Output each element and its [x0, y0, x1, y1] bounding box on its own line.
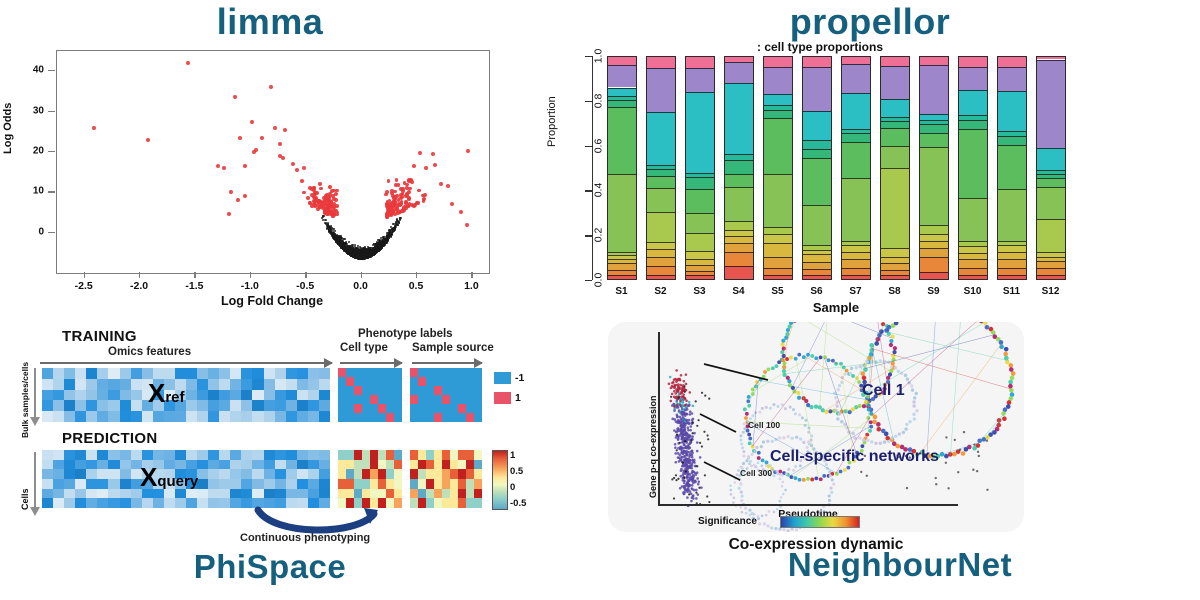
heatmap-cell	[241, 379, 252, 390]
diverging-heatmap-cell	[450, 498, 458, 508]
diverging-heatmap-cell	[434, 498, 442, 508]
proportion-segment	[959, 129, 987, 197]
proportion-bar	[802, 56, 832, 280]
diverging-heatmap-cell	[450, 469, 458, 479]
volcano-x-tick: -0.5	[296, 280, 314, 292]
diverging-heatmap-cell	[434, 479, 442, 489]
binary-heatmap-cell	[394, 413, 402, 422]
binary-heatmap-cell	[410, 368, 418, 377]
proportion-x-tick: S5	[771, 286, 783, 297]
proportion-segment	[959, 67, 987, 91]
heatmap-cell	[64, 479, 75, 489]
proportion-segment	[803, 205, 831, 245]
binary-heatmap-cell	[426, 377, 434, 386]
heatmap-cell	[75, 411, 86, 422]
binary-heatmap-cell	[370, 413, 378, 422]
proportion-segment	[920, 65, 948, 114]
proportion-segment	[998, 241, 1026, 245]
heatmap-cell	[230, 390, 241, 401]
binary-heatmap-cell	[418, 368, 426, 377]
heatmap-cell	[53, 479, 64, 489]
diverging-heatmap-cell	[394, 460, 402, 470]
volcano-x-tick: 1.0	[464, 280, 479, 292]
proportion-bar	[841, 56, 871, 280]
heatmap-cell	[197, 411, 208, 422]
heatmap-cell	[108, 400, 119, 411]
proportion-segment	[1037, 275, 1065, 279]
heatmap-cell	[286, 390, 297, 401]
proportion-segment	[998, 145, 1026, 190]
binary-heatmap-cell	[450, 386, 458, 395]
binary-heatmap-cell	[458, 377, 466, 386]
heatmap-cell	[219, 498, 230, 508]
proportion-segment	[725, 160, 753, 173]
heatmap-cell	[275, 479, 286, 489]
diverging-heatmap-cell	[426, 479, 434, 489]
binary-heatmap-cell	[346, 368, 354, 377]
proportion-segment	[647, 112, 675, 165]
heatmap-cell	[75, 379, 86, 390]
proportion-segment	[608, 107, 636, 174]
binary-heatmap-cell	[426, 413, 434, 422]
heatmap-cell	[286, 411, 297, 422]
diverging-heatmap-cell	[346, 450, 354, 460]
proportion-segment	[920, 272, 948, 279]
proportion-segment	[881, 121, 909, 128]
heatmap-cell	[219, 460, 230, 470]
proportion-segment	[1037, 148, 1065, 170]
heatmap-cell	[97, 400, 108, 411]
diverging-heatmap-cell	[442, 460, 450, 470]
heatmap-cell	[86, 460, 97, 470]
proportion-segment	[803, 67, 831, 111]
heatmap-cell	[308, 460, 319, 470]
proportion-segment	[920, 133, 948, 146]
heatmap-cell	[297, 411, 308, 422]
sample-source-binary-heatmap	[410, 368, 482, 422]
heatmap-cell	[97, 460, 108, 470]
heatmap-cell	[264, 479, 275, 489]
heatmap-cell	[64, 450, 75, 460]
proportion-segment	[920, 234, 948, 241]
volcano-y-tick: 20	[0, 145, 44, 156]
diverging-heatmap-cell	[418, 489, 426, 499]
heatmap-cell	[286, 489, 297, 499]
proportion-segment	[881, 275, 909, 279]
heatmap-cell	[275, 400, 286, 411]
heatmap-cell	[219, 400, 230, 411]
diverging-heatmap-cell	[458, 498, 466, 508]
heatmap-cell	[108, 498, 119, 508]
panel-phispace: TRAINING Omics features Bulk samples/cel…	[0, 320, 540, 600]
proportion-segment	[959, 275, 987, 279]
proportion-segment	[959, 253, 987, 260]
proportion-segment	[959, 115, 987, 121]
proportion-segment	[842, 241, 870, 245]
diverging-heatmap-cell	[378, 479, 386, 489]
heatmap-cell	[275, 489, 286, 499]
heatmap-cell	[241, 411, 252, 422]
heatmap-cell	[120, 489, 131, 499]
heatmap-cell	[252, 489, 263, 499]
binary-heatmap-cell	[458, 404, 466, 413]
proportion-x-tick: S2	[654, 286, 666, 297]
diverging-heatmap-cell	[466, 450, 474, 460]
binary-heatmap-cell	[450, 377, 458, 386]
heatmap-cell	[308, 400, 319, 411]
binary-heatmap-cell	[466, 413, 474, 422]
heatmap-cell	[64, 489, 75, 499]
proportion-segment	[881, 168, 909, 248]
heatmap-cell	[175, 498, 186, 508]
predicted-sample-source-heatmap	[410, 450, 482, 508]
heatmap-cell	[308, 479, 319, 489]
heatmap-cell	[208, 411, 219, 422]
proportion-segment	[686, 92, 714, 173]
proportion-y-axis-label: Proportion	[546, 96, 558, 147]
heatmap-cell	[86, 489, 97, 499]
continuous-colorbar	[492, 450, 508, 510]
diverging-heatmap-cell	[338, 460, 346, 470]
diverging-heatmap-cell	[474, 460, 482, 470]
heatmap-cell	[53, 450, 64, 460]
heatmap-cell	[264, 390, 275, 401]
x-ref-heatmap	[42, 368, 330, 422]
heatmap-cell	[252, 450, 263, 460]
diverging-heatmap-cell	[386, 469, 394, 479]
diverging-heatmap-cell	[418, 498, 426, 508]
heatmap-cell	[75, 498, 86, 508]
diverging-heatmap-cell	[418, 469, 426, 479]
heatmap-cell	[308, 379, 319, 390]
binary-heatmap-cell	[378, 377, 386, 386]
phenotype-labels-caption: Phenotype labels	[358, 328, 453, 340]
binary-heatmap-cell	[354, 377, 362, 386]
heatmap-cell	[319, 469, 330, 479]
proportion-segment	[998, 136, 1026, 145]
cells-arrow	[34, 452, 36, 508]
binary-heatmap-cell	[410, 413, 418, 422]
proportion-segment	[920, 241, 948, 248]
heatmap-cell	[108, 411, 119, 422]
heatmap-cell	[208, 450, 219, 460]
cell-300-annotation: Cell 300	[740, 468, 772, 478]
heatmap-cell	[153, 450, 164, 460]
proportion-plot-area	[602, 56, 1070, 280]
binary-heatmap-cell	[370, 368, 378, 377]
proportion-segment	[764, 67, 792, 94]
heatmap-cell	[230, 411, 241, 422]
proportion-segment	[647, 249, 675, 258]
heatmap-cell	[120, 469, 131, 479]
binary-heatmap-cell	[442, 413, 450, 422]
proportion-segment	[608, 65, 636, 87]
heatmap-cell	[186, 379, 197, 390]
binary-heatmap-cell	[434, 395, 442, 404]
proportion-segment	[764, 110, 792, 118]
diverging-heatmap-cell	[418, 450, 426, 460]
proportion-segment	[647, 266, 675, 275]
diverging-heatmap-cell	[362, 450, 370, 460]
proportion-segment	[920, 225, 948, 234]
heatmap-cell	[275, 460, 286, 470]
heatmap-cell	[175, 450, 186, 460]
diverging-heatmap-cell	[410, 450, 418, 460]
heatmap-cell	[208, 368, 219, 379]
heatmap-cell	[308, 450, 319, 460]
proportion-segment	[803, 262, 831, 269]
heatmap-cell	[264, 411, 275, 422]
heatmap-cell	[97, 379, 108, 390]
binary-heatmap-cell	[394, 404, 402, 413]
binary-heatmap-cell	[362, 368, 370, 377]
binary-heatmap-cell	[362, 377, 370, 386]
proportion-segment	[725, 154, 753, 161]
heatmap-cell	[264, 368, 275, 379]
figure-montage: limma Log Odds 010203040 -2.5-2.0-1.5-1.…	[0, 0, 1200, 600]
heatmap-cell	[53, 460, 64, 470]
heatmap-cell	[197, 460, 208, 470]
heatmap-cell	[264, 400, 275, 411]
diverging-heatmap-cell	[394, 469, 402, 479]
proportion-segment	[686, 251, 714, 259]
binary-heatmap-cell	[386, 377, 394, 386]
heatmap-cell	[286, 460, 297, 470]
heatmap-cell	[86, 498, 97, 508]
diverging-heatmap-cell	[370, 479, 378, 489]
heatmap-cell	[186, 368, 197, 379]
proportion-segment	[998, 259, 1026, 268]
proportion-segment	[686, 259, 714, 265]
diverging-heatmap-cell	[442, 489, 450, 499]
binary-heatmap-cell	[354, 413, 362, 422]
proportion-segment	[647, 188, 675, 212]
panel-title-phispace: PhiSpace	[0, 548, 540, 586]
heatmap-cell	[86, 469, 97, 479]
heatmap-cell	[108, 390, 119, 401]
heatmap-cell	[164, 411, 175, 422]
heatmap-cell	[142, 411, 153, 422]
proportion-segment	[686, 271, 714, 275]
heatmap-cell	[42, 469, 53, 479]
heatmap-cell	[64, 400, 75, 411]
binary-heatmap-cell	[466, 368, 474, 377]
heatmap-cell	[108, 450, 119, 460]
heatmap-cell	[131, 368, 142, 379]
proportion-segment	[920, 147, 948, 225]
heatmap-cell	[297, 379, 308, 390]
proportion-segment	[842, 93, 870, 129]
binary-heatmap-cell	[458, 386, 466, 395]
proportion-segment	[881, 117, 909, 121]
proportion-segment	[608, 96, 636, 100]
proportion-segment	[647, 169, 675, 176]
binary-heatmap-cell	[394, 395, 402, 404]
proportion-segment	[842, 56, 870, 64]
diverging-heatmap-cell	[458, 479, 466, 489]
panel-title-neighbournet: NeighbourNet	[600, 546, 1200, 584]
diverging-heatmap-cell	[338, 469, 346, 479]
diverging-heatmap-cell	[354, 479, 362, 489]
heatmap-cell	[97, 469, 108, 479]
heatmap-cell	[219, 489, 230, 499]
heatmap-cell	[42, 390, 53, 401]
proportion-segment	[608, 275, 636, 279]
proportion-bar-chart: : cell type proportions Proportion 0.00.…	[540, 42, 1200, 320]
proportion-segment	[803, 149, 831, 158]
volcano-y-tickmark	[48, 70, 55, 71]
proportion-segment	[1037, 170, 1065, 173]
heatmap-cell	[264, 379, 275, 390]
binary-heatmap-cell	[410, 377, 418, 386]
heatmap-cell	[120, 368, 131, 379]
heatmap-cell	[297, 368, 308, 379]
proportion-segment	[764, 275, 792, 279]
panel-title-limma: limma	[0, 0, 540, 42]
binary-heatmap-cell	[338, 386, 346, 395]
heatmap-cell	[208, 498, 219, 508]
proportion-segment	[998, 131, 1026, 135]
proportion-x-axis-label: Sample	[602, 300, 1070, 315]
heatmap-cell	[64, 390, 75, 401]
heatmap-cell	[120, 411, 131, 422]
cell-1-annotation: Cell 1	[862, 382, 905, 400]
heatmap-cell	[131, 400, 142, 411]
volcano-y-tickmark	[48, 111, 55, 112]
heatmap-cell	[308, 489, 319, 499]
proportion-segment	[1037, 252, 1065, 256]
sample-source-caption: Sample source	[412, 342, 494, 354]
proportion-x-tick: S10	[964, 286, 982, 297]
binary-heatmap-cell	[338, 377, 346, 386]
heatmap-cell	[252, 460, 263, 470]
volcano-x-axis-label: Log Fold Change	[56, 294, 488, 308]
volcano-x-tickmark	[250, 272, 251, 278]
binary-heatmap-cell	[378, 413, 386, 422]
diverging-heatmap-cell	[346, 469, 354, 479]
binary-legend-label: -1	[515, 372, 524, 384]
heatmap-cell	[75, 390, 86, 401]
binary-heatmap-cell	[418, 404, 426, 413]
diverging-heatmap-cell	[450, 489, 458, 499]
proportion-segment	[647, 165, 675, 169]
diverging-heatmap-cell	[442, 469, 450, 479]
diverging-heatmap-cell	[442, 450, 450, 460]
neighbournet-network-graphic	[608, 322, 1024, 532]
proportion-segment	[959, 259, 987, 268]
panel-limma: limma Log Odds 010203040 -2.5-2.0-1.5-1.…	[0, 0, 540, 320]
proportion-segment	[686, 275, 714, 279]
proportion-segment	[998, 275, 1026, 279]
proportion-segment	[764, 118, 792, 174]
volcano-x-tick: 0.0	[353, 280, 368, 292]
proportion-segment	[881, 263, 909, 270]
proportion-segment	[998, 245, 1026, 252]
colorbar-tick-label: 0	[510, 482, 515, 493]
heatmap-cell	[264, 489, 275, 499]
heatmap-cell	[86, 379, 97, 390]
colorbar-tick-label: 1	[510, 450, 515, 461]
heatmap-cell	[252, 368, 263, 379]
binary-heatmap-cell	[362, 395, 370, 404]
heatmap-cell	[264, 460, 275, 470]
proportion-segment	[803, 250, 831, 254]
proportion-bar	[880, 56, 910, 280]
heatmap-cell	[241, 368, 252, 379]
proportion-segment	[803, 111, 831, 140]
heatmap-cell	[208, 379, 219, 390]
proportion-y-tickmark	[585, 56, 592, 57]
diverging-heatmap-cell	[354, 450, 362, 460]
proportion-segment	[842, 275, 870, 279]
binary-heatmap-cell	[466, 377, 474, 386]
cell-100-annotation: Cell 100	[748, 420, 780, 430]
binary-heatmap-cell	[442, 377, 450, 386]
diverging-heatmap-cell	[466, 479, 474, 489]
binary-heatmap-cell	[474, 377, 482, 386]
proportion-segment	[842, 245, 870, 252]
binary-legend-swatch	[494, 372, 511, 384]
proportion-segment	[881, 56, 909, 66]
heatmap-cell	[153, 411, 164, 422]
binary-heatmap-cell	[434, 386, 442, 395]
proportion-y-tickmark	[585, 235, 592, 236]
proportion-segment	[725, 236, 753, 243]
binary-heatmap-cell	[418, 377, 426, 386]
heatmap-cell	[86, 400, 97, 411]
heatmap-cell	[53, 390, 64, 401]
proportion-segment	[803, 56, 831, 67]
proportion-segment	[881, 99, 909, 117]
predicted-cell-type-heatmap	[338, 450, 402, 508]
heatmap-cell	[230, 460, 241, 470]
heatmap-cell	[86, 450, 97, 460]
diverging-heatmap-cell	[426, 450, 434, 460]
diverging-heatmap-cell	[466, 498, 474, 508]
proportion-segment	[842, 178, 870, 241]
proportion-y-axis-line	[592, 56, 593, 280]
binary-heatmap-cell	[474, 413, 482, 422]
proportion-segment	[725, 252, 753, 265]
proportion-segment	[608, 174, 636, 251]
heatmap-cell	[53, 368, 64, 379]
diverging-heatmap-cell	[410, 489, 418, 499]
heatmap-cell	[297, 479, 308, 489]
proportion-segment	[803, 275, 831, 279]
proportion-segment	[647, 56, 675, 68]
diverging-heatmap-cell	[466, 469, 474, 479]
proportion-segment	[803, 269, 831, 275]
proportion-segment	[764, 56, 792, 67]
diverging-heatmap-cell	[338, 489, 346, 499]
heatmap-cell	[241, 450, 252, 460]
proportion-segment	[1037, 174, 1065, 178]
cell-specific-networks-annotation: Cell-specific networks	[770, 448, 939, 466]
proportion-segment	[608, 270, 636, 275]
heatmap-cell	[186, 411, 197, 422]
heatmap-cell	[175, 411, 186, 422]
heatmap-cell	[131, 379, 142, 390]
proportion-segment	[959, 120, 987, 129]
binary-heatmap-cell	[418, 395, 426, 404]
diverging-heatmap-cell	[386, 479, 394, 489]
proportion-segment	[842, 259, 870, 268]
heatmap-cell	[230, 469, 241, 479]
heatmap-cell	[164, 450, 175, 460]
diverging-heatmap-cell	[394, 450, 402, 460]
diverging-heatmap-cell	[474, 469, 482, 479]
heatmap-cell	[97, 479, 108, 489]
